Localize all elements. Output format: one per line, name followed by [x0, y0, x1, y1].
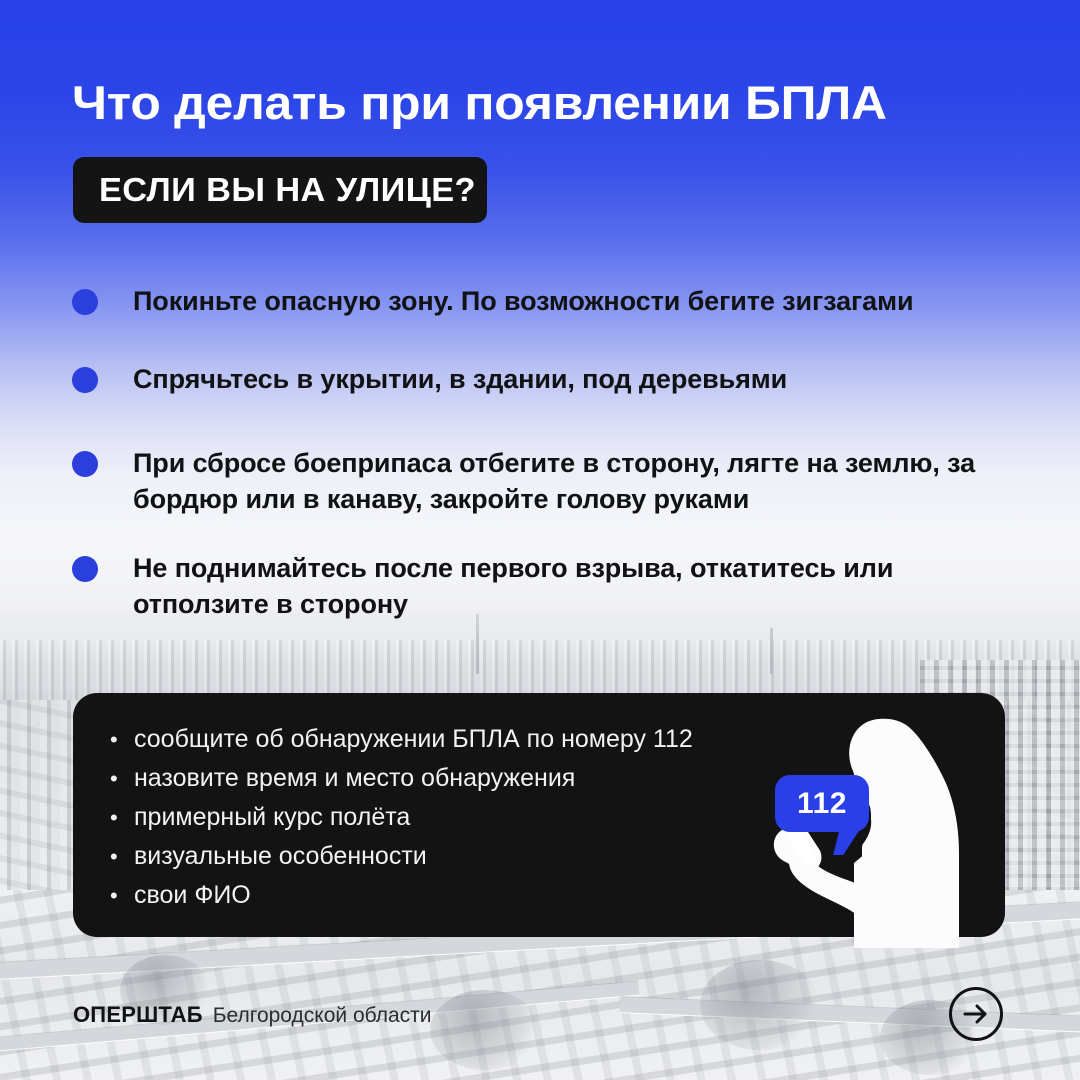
page-title: Что делать при появлении БПЛА: [72, 74, 1068, 132]
bullet-dot-icon: [72, 367, 98, 393]
next-slide-button[interactable]: [949, 987, 1003, 1041]
list-item-text: При сбросе боеприпаса отбегите в сторону…: [133, 445, 1013, 517]
list-item: Покиньте опасную зону. По возможности бе…: [72, 283, 1022, 319]
brand-region: Белгородской области: [213, 1004, 432, 1028]
subtitle-chip: ЕСЛИ ВЫ НА УЛИЦЕ?: [73, 157, 487, 223]
tree-cluster: [700, 960, 820, 1050]
bullet-dot-icon: [72, 451, 98, 477]
person-calling-illustration: 112: [754, 703, 1005, 948]
list-item-text: Покиньте опасную зону. По возможности бе…: [133, 283, 913, 319]
list-item: примерный курс полёта: [106, 798, 756, 837]
emergency-number: 112: [797, 789, 847, 819]
speech-bubble-112: 112: [775, 775, 869, 832]
list-item-text: Спрячьтесь в укрытии, в здании, под дере…: [133, 361, 787, 397]
list-item: визуальные особенности: [106, 837, 756, 876]
list-item: При сбросе боеприпаса отбегите в сторону…: [72, 445, 1022, 517]
bullet-dot-icon: [72, 289, 98, 315]
list-item-text: Не поднимайтесь после первого взрыва, от…: [133, 550, 1013, 622]
list-item: свои ФИО: [106, 876, 756, 915]
footer-branding: ОПЕРШТАБ Белгородской области: [73, 1002, 432, 1028]
card-instruction-list: сообщите об обнаружении БПЛА по номеру 1…: [106, 720, 756, 915]
infographic-poster: Что делать при появлении БПЛА ЕСЛИ ВЫ НА…: [0, 0, 1080, 1080]
subtitle-chip-label: ЕСЛИ ВЫ НА УЛИЦЕ?: [99, 171, 476, 209]
brand-name: ОПЕРШТАБ: [73, 1002, 203, 1028]
instruction-list: Покиньте опасную зону. По возможности бе…: [72, 283, 1022, 622]
list-item: назовите время и место обнаружения: [106, 759, 756, 798]
list-item: сообщите об обнаружении БПЛА по номеру 1…: [106, 720, 756, 759]
tree-cluster: [430, 990, 540, 1070]
list-item: Спрячьтесь в укрытии, в здании, под дере…: [72, 361, 1022, 397]
bullet-dot-icon: [72, 556, 98, 582]
list-item: Не поднимайтесь после первого взрыва, от…: [72, 550, 1022, 622]
arrow-right-icon: [961, 999, 991, 1029]
